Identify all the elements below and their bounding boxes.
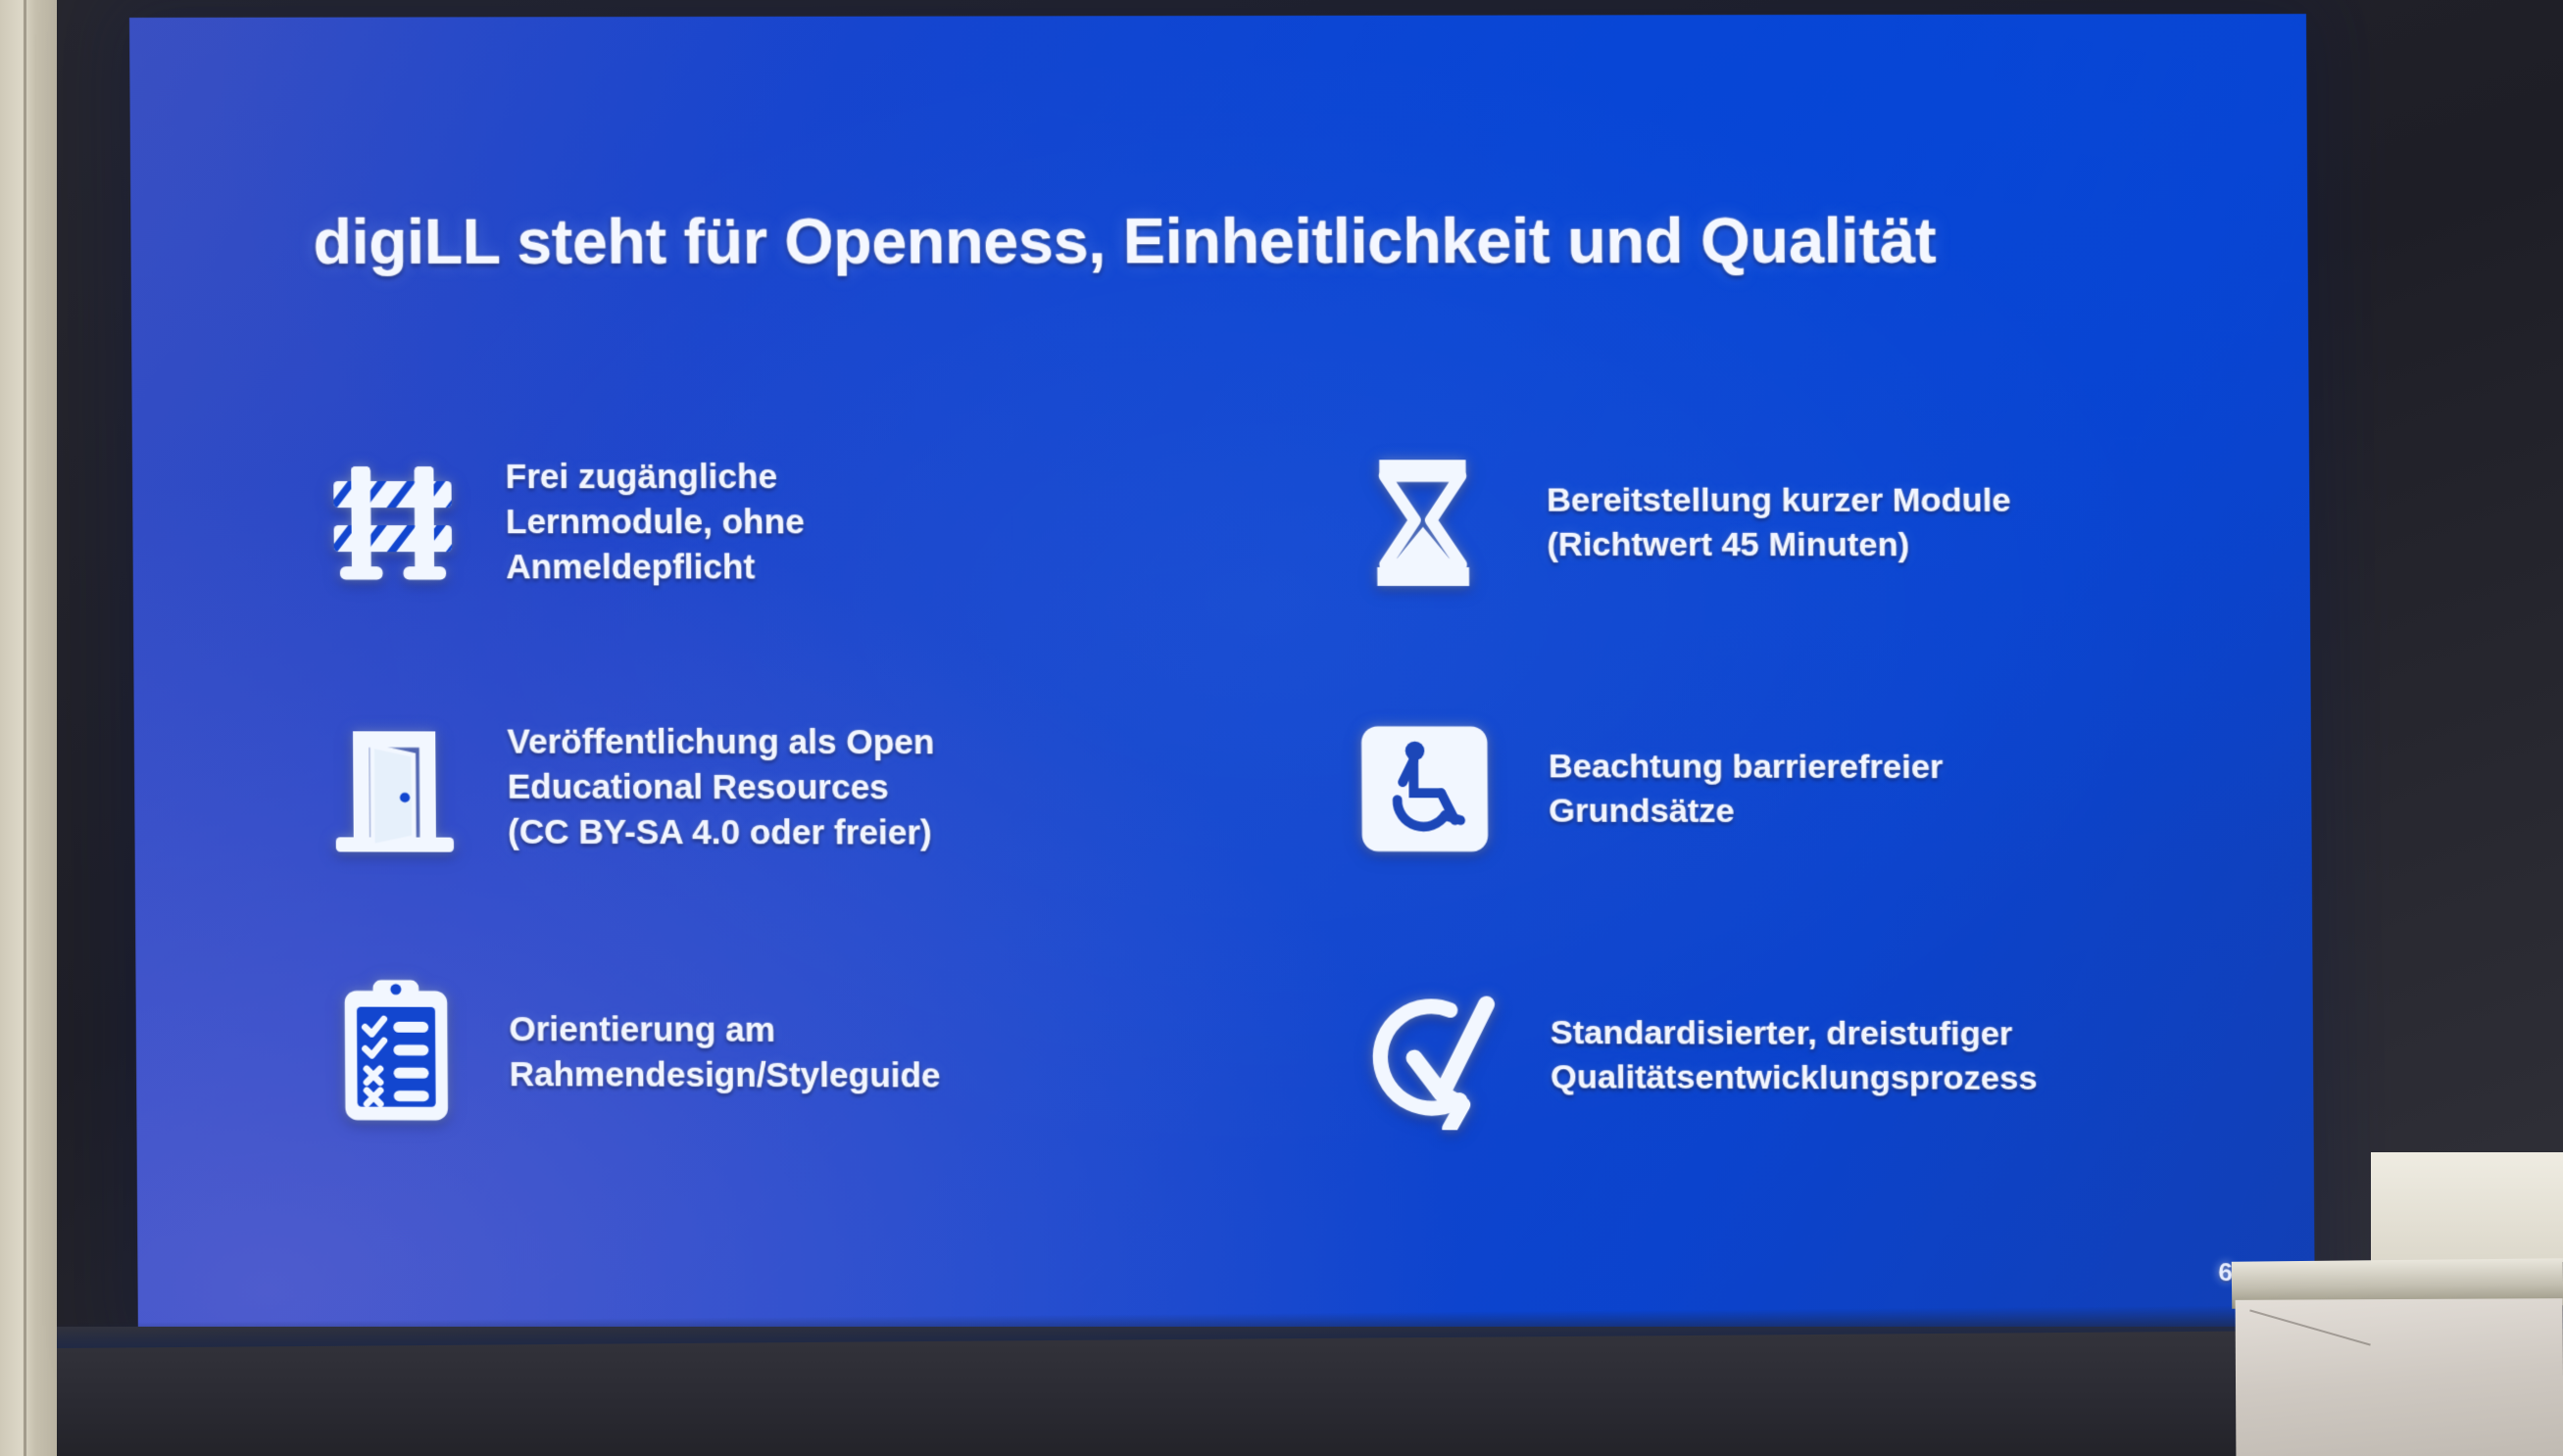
feature-item-styleguide: Orientierung am Rahmendesign/Styleguide (282, 919, 1246, 1188)
projected-slide: digiLL steht für Openness, Einheitlichke… (129, 14, 2315, 1351)
feature-line: Anmeldepflicht (506, 545, 1242, 591)
feature-item-qualitaetsprozess: Standardisierter, dreistufiger Qualitäts… (1302, 922, 2274, 1191)
slide-title: digiLL steht für Openness, Einheitlichke… (313, 208, 2253, 275)
feature-line: Standardisierter, dreistufiger (1551, 1011, 2274, 1057)
feature-grid: Frei zugängliche Lernmodule, ohne Anmeld… (279, 390, 2275, 1191)
feature-text: Beachtung barrierefreier Grundsätze (1549, 745, 2272, 835)
feature-text: Standardisierter, dreistufiger Qualitäts… (1551, 1011, 2274, 1102)
feature-line: Veröffentlichung als Open (507, 719, 1243, 765)
open-door-icon (281, 689, 509, 886)
feature-text: Orientierung am Rahmendesign/Styleguide (509, 1007, 1245, 1100)
feature-line: (CC BY-SA 4.0 oder freier) (508, 810, 1244, 857)
hourglass-icon (1299, 424, 1548, 621)
feature-line: Bereitstellung kurzer Module (1547, 479, 2270, 524)
slide-content: digiLL steht für Openness, Einheitlichke… (129, 14, 2315, 1351)
feature-text: Veröffentlichung als Open Educational Re… (507, 719, 1244, 856)
feature-line: Educational Resources (508, 765, 1244, 812)
wall-seam (24, 0, 26, 1456)
feature-line: Grundsätze (1549, 789, 2272, 835)
left-wall-strip (0, 0, 57, 1456)
feature-line: Rahmendesign/Styleguide (510, 1052, 1246, 1100)
room-scene: digiLL steht für Openness, Einheitlichke… (0, 0, 2563, 1456)
feature-line: Qualitätsentwicklungsprozess (1551, 1055, 2274, 1101)
cycle-check-icon (1302, 956, 1551, 1154)
feature-line: Lernmodule, ohne (506, 500, 1242, 546)
feature-item-oer: Veröffentlichung als Open Educational Re… (280, 655, 1244, 921)
flipchart-occluder (2222, 1242, 2563, 1456)
feature-line: Orientierung am (509, 1007, 1245, 1054)
screen-lower-band (57, 1327, 2563, 1456)
flipchart-paper (2236, 1298, 2563, 1456)
feature-line: (Richtwert 45 Minuten) (1547, 523, 2270, 568)
wheelchair-accessibility-icon (1301, 690, 1550, 888)
flipchart-upper-panel (2371, 1152, 2563, 1262)
feature-item-frei-zugaengliche: Frei zugängliche Lernmodule, ohne Anmeld… (279, 390, 1243, 655)
feature-text: Frei zugängliche Lernmodule, ohne Anmeld… (506, 455, 1243, 591)
barrier-icon (279, 424, 507, 620)
feature-item-barrierefreiheit: Beachtung barrierefreier Grundsätze (1300, 655, 2272, 924)
feature-line: Beachtung barrierefreier (1549, 745, 2272, 790)
clipboard-checklist-icon (282, 953, 510, 1150)
feature-item-kurze-module: Bereitstellung kurzer Module (Richtwert … (1299, 390, 2271, 657)
feature-text: Bereitstellung kurzer Module (Richtwert … (1547, 479, 2270, 568)
feature-line: Frei zugängliche (506, 455, 1242, 501)
